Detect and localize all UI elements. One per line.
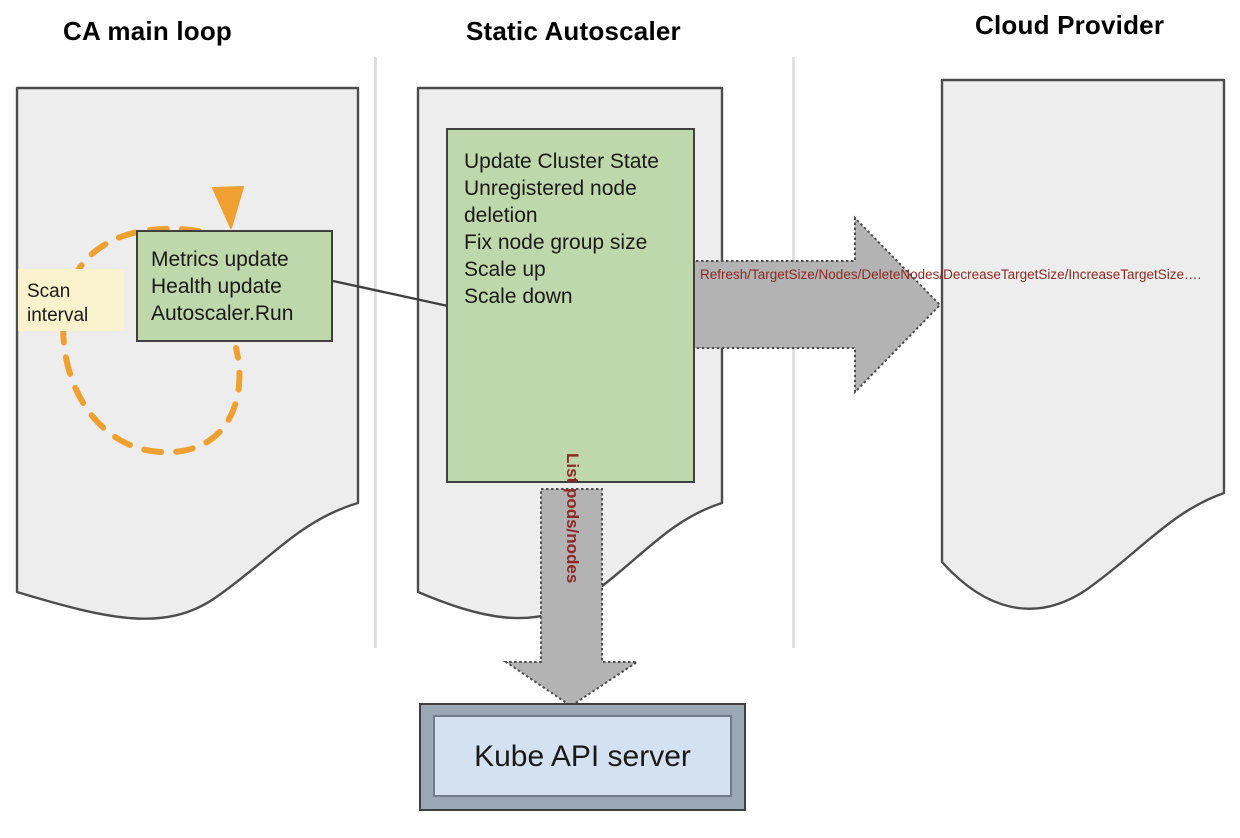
note-scan-interval: Scan interval	[18, 269, 124, 331]
lane-title-static-autoscaler: Static Autoscaler	[466, 16, 681, 47]
arrow-cloud-provider-calls	[691, 218, 940, 392]
arrow-label-cloud-provider-calls: Refresh/TargetSize/Nodes/DeleteNodes/Dec…	[700, 266, 896, 283]
lane-title-cloud-provider: Cloud Provider	[975, 10, 1164, 41]
node-metrics-update-text: Metrics update Health update Autoscaler.…	[151, 246, 293, 327]
arrow-kube-api-calls	[506, 489, 637, 706]
lane-panel-cloud-provider	[942, 80, 1224, 609]
node-metrics-update[interactable]: Metrics update Health update Autoscaler.…	[136, 230, 333, 342]
node-autoscaler-steps[interactable]: Update Cluster State Unregistered node d…	[446, 128, 695, 483]
lane-panel-ca-main-loop	[17, 88, 358, 619]
connector-metrics-to-autoscaler	[333, 281, 448, 306]
diagram-canvas: CA main loop Static Autoscaler Cloud Pro…	[0, 0, 1240, 838]
node-kube-api-server-label: Kube API server	[419, 740, 746, 774]
lane-title-ca-main-loop: CA main loop	[63, 16, 232, 47]
note-scan-interval-text: Scan interval	[27, 280, 88, 328]
node-autoscaler-steps-text: Update Cluster State Unregistered node d…	[464, 148, 659, 310]
node-kube-api-server[interactable]: Kube API server	[419, 703, 746, 811]
